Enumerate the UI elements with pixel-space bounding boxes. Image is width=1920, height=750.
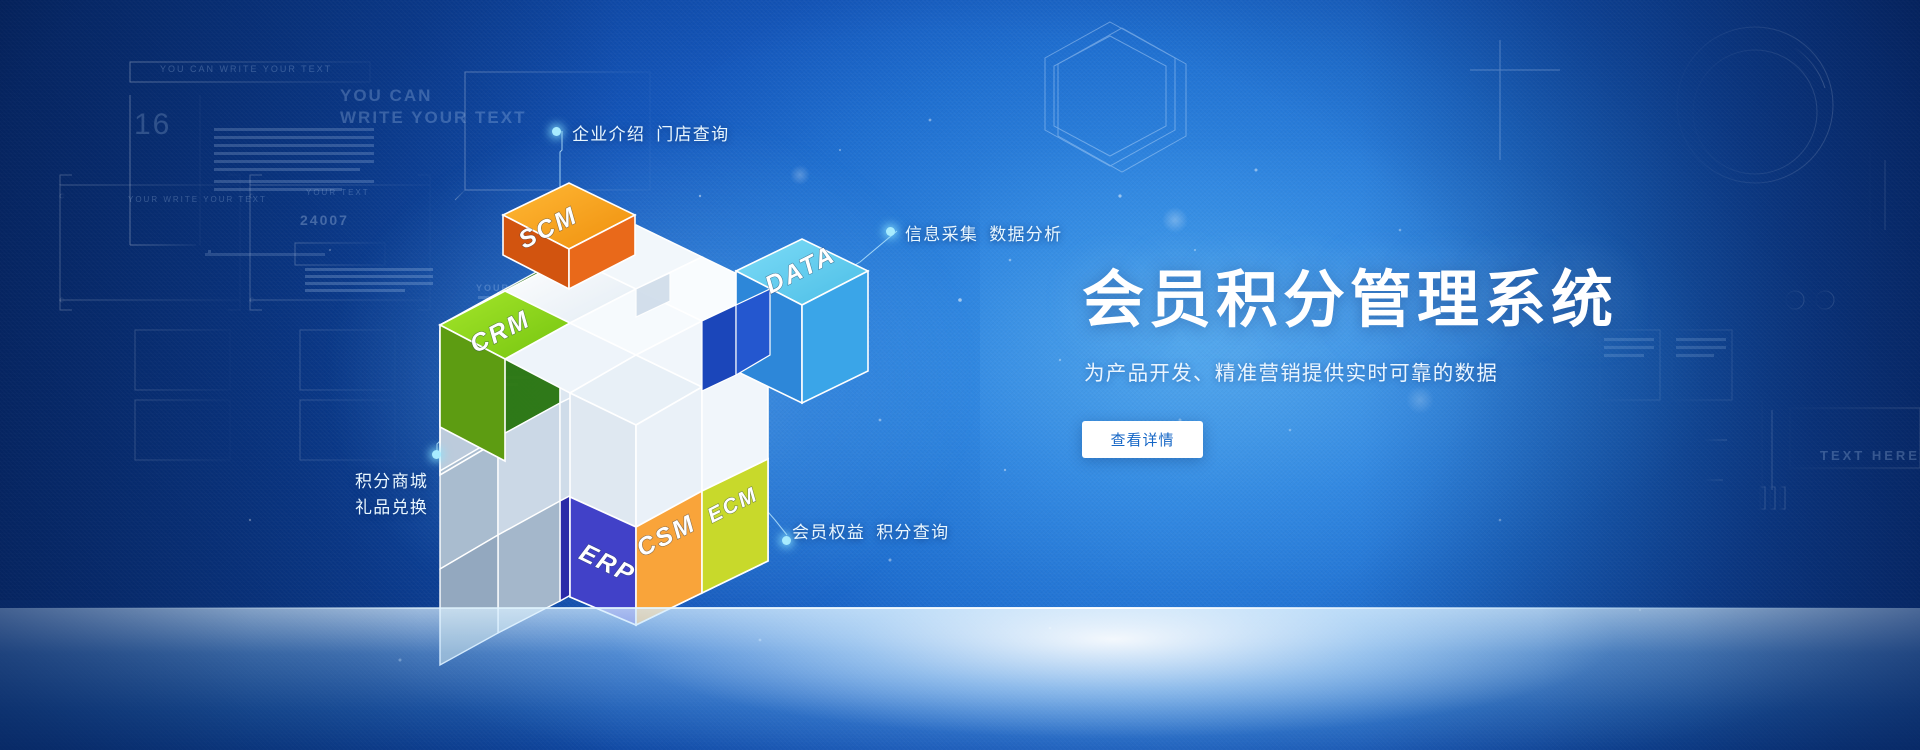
decor-placeholder-title: YOU CAN WRITE YOUR TEXT [160, 64, 332, 74]
callout-data-line1: 信息采集 [905, 220, 978, 245]
callout-member-line1: 会员权益 [792, 518, 865, 543]
hero-copy-block: 会员积分管理系统 为产品开发、精准营销提供实时可靠的数据 查看详情 [1082, 268, 1702, 458]
callout-dot-shop [432, 450, 441, 459]
callout-points-shop[interactable]: 积分商城 礼品兑换 [355, 469, 428, 522]
floor-left-shade [0, 600, 420, 750]
decor-code-24007: 24007 [300, 212, 349, 228]
floor-right-shade [1540, 600, 1920, 750]
callout-enterprise-line2: 门店查询 [656, 120, 729, 145]
callout-shop-line1: 积分商城 [355, 469, 428, 495]
callout-enterprise-line1: 企业介绍 [572, 120, 645, 145]
callout-shop-line2: 礼品兑换 [355, 495, 428, 521]
decor-text-here: TEXT HERE [1820, 448, 1920, 463]
decor-write-your-text: WRITE YOUR TEXT [340, 108, 526, 128]
decor-number-16: 16 [134, 108, 171, 142]
callout-member-line2: 积分查询 [876, 518, 949, 543]
view-details-button[interactable]: 查看详情 [1082, 421, 1203, 458]
decor-you-can: YOU CAN [340, 86, 432, 106]
decor-your-text-4: YOUR TEXT [306, 188, 370, 197]
callout-dot-data [886, 227, 895, 236]
callout-data[interactable]: 信息采集数据分析 [905, 220, 1062, 245]
rubiks-cube-graphic: SCM CRM DATA ERP CSM ECM [440, 205, 900, 625]
callout-data-line2: 数据分析 [989, 220, 1062, 245]
callout-dot-member [782, 536, 791, 545]
callout-dot-enterprise [552, 127, 561, 136]
page-title: 会员积分管理系统 [1082, 268, 1702, 334]
callout-member[interactable]: 会员权益积分查询 [792, 518, 949, 543]
hero-banner: YOU CAN WRITE YOUR TEXT 16 YOU CAN WRITE… [0, 0, 1920, 750]
decor-your-write-your-text: YOUR WRITE YOUR TEXT [128, 195, 267, 204]
page-subtitle: 为产品开发、精准营销提供实时可靠的数据 [1084, 356, 1702, 386]
callout-enterprise[interactable]: 企业介绍门店查询 [572, 120, 729, 145]
